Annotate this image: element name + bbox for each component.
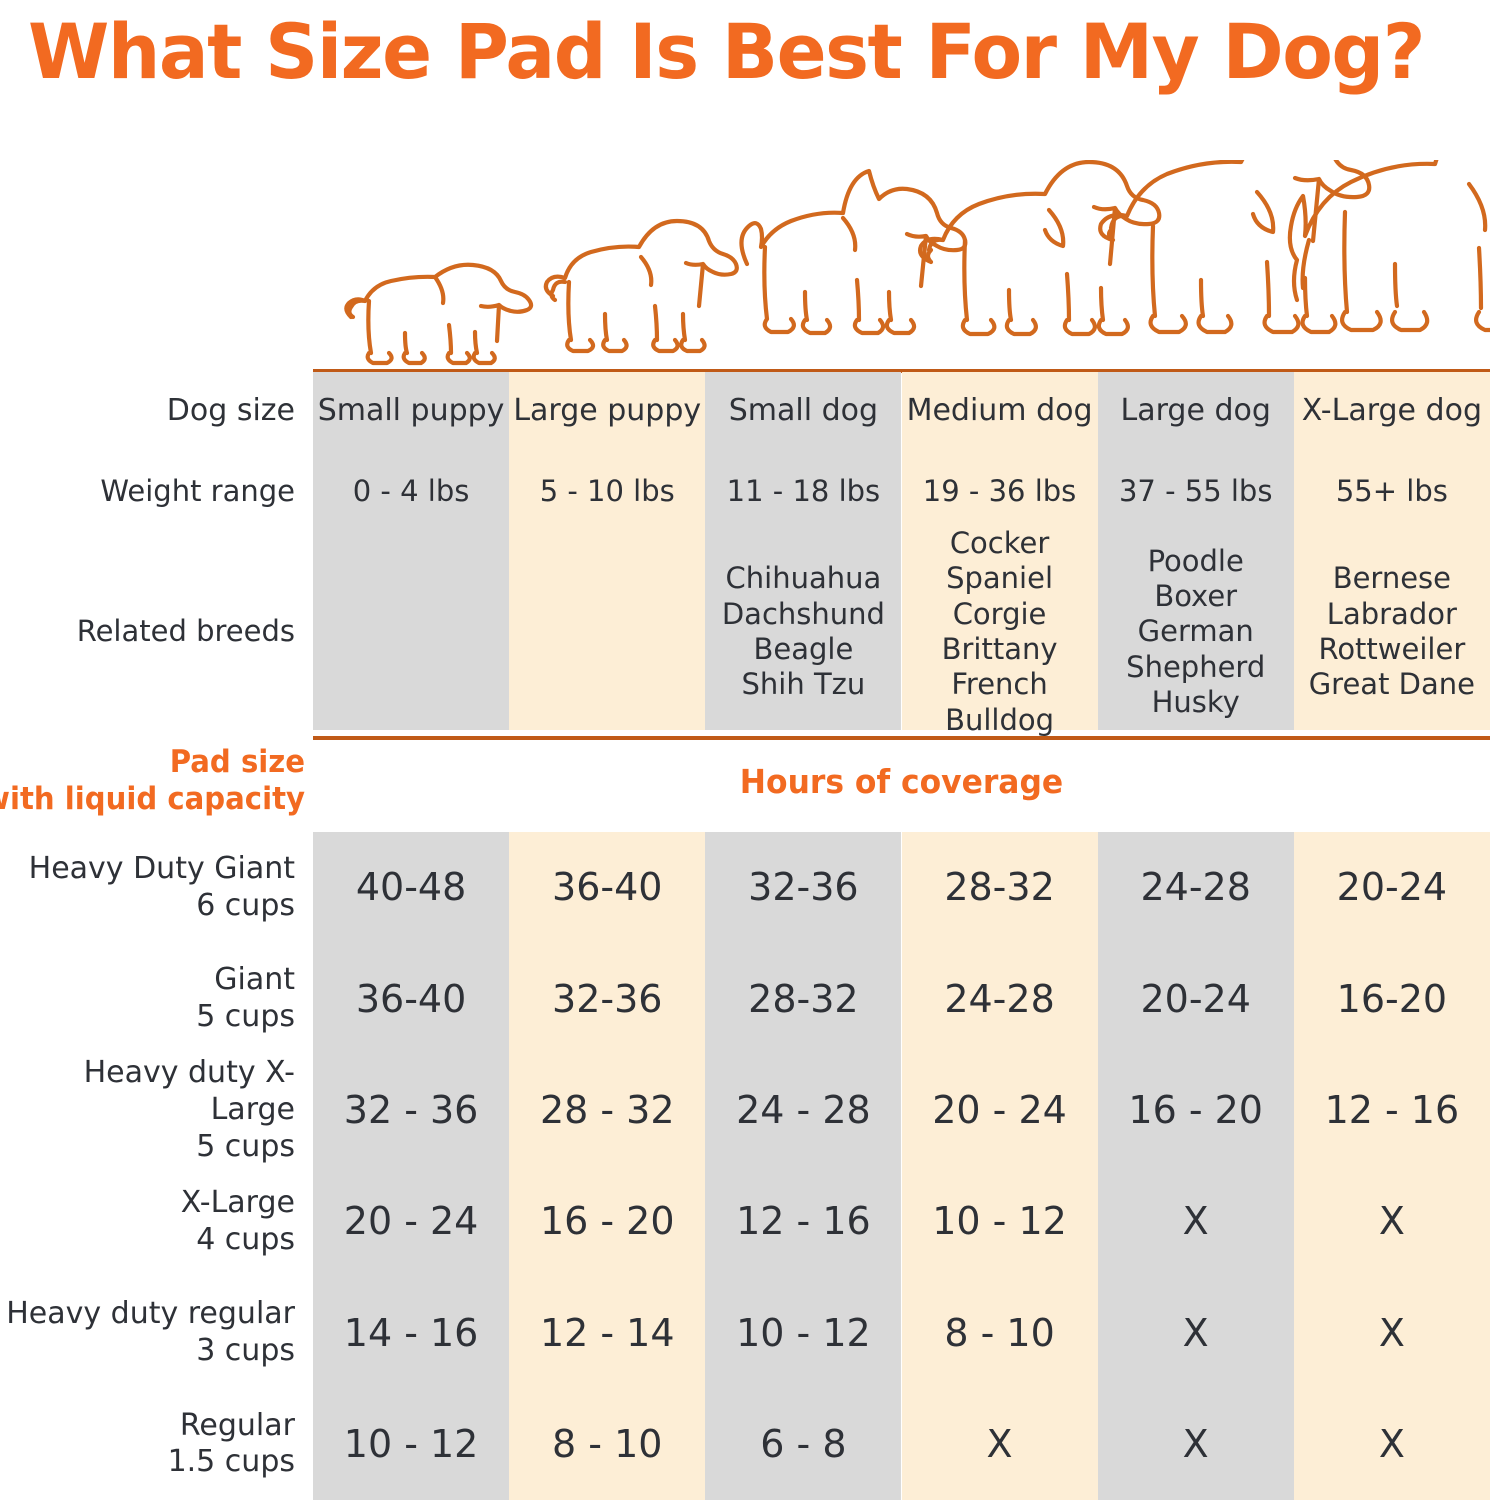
pad-name: Heavy duty regular [6, 1296, 295, 1333]
pad-size-label: Pad size with liquid capacity [0, 744, 305, 818]
hours-cell-r3-c3: 24 - 28 [705, 1055, 901, 1166]
hours-cell-r3-c6: 12 - 16 [1294, 1055, 1490, 1166]
dog-size-cell-2: Large puppy [509, 372, 705, 450]
hours-cell-r2-c4: 24-28 [901, 943, 1097, 1054]
infographic-root: What Size Pad Is Best For My Dog? [0, 0, 1499, 1500]
hours-cell-r4-c4: 10 - 12 [901, 1166, 1097, 1277]
pad-size-section-header: Pad size with liquid capacity Hours of c… [0, 742, 1499, 832]
breed-name: French Bulldog [901, 667, 1097, 738]
dog-size-cell-4: Medium dog [901, 372, 1097, 450]
breeds-cell-2 [509, 534, 705, 730]
breed-name: Dachshund [722, 597, 885, 632]
breed-name: Brittany [942, 632, 1058, 667]
hours-of-coverage-label: Hours of coverage [342, 762, 1460, 801]
breed-name: Cocker Spaniel [901, 526, 1097, 597]
breed-name: Rottweiler [1318, 632, 1465, 667]
breeds-cell-4: Cocker SpanielCorgieBrittanyFrench Bulld… [901, 534, 1097, 730]
hours-cell-r4-c5: X [1098, 1166, 1294, 1277]
hours-cell-r4-c3: 12 - 16 [705, 1166, 901, 1277]
pad-name: Regular [180, 1408, 295, 1445]
weight-cell-1: 0 - 4 lbs [313, 450, 509, 534]
row-label-dog-size: Dog size [0, 372, 313, 450]
small-puppy-icon [346, 265, 531, 363]
pad-capacity: 5 cups [196, 999, 295, 1036]
weight-cell-4: 19 - 36 lbs [901, 450, 1097, 534]
hours-cell-r5-c2: 12 - 14 [509, 1277, 705, 1388]
hours-cell-r1-c2: 36-40 [509, 832, 705, 943]
hours-cell-r2-c6: 16-20 [1294, 943, 1490, 1054]
breed-name: Shih Tzu [742, 667, 866, 702]
weight-cell-2: 5 - 10 lbs [509, 450, 705, 534]
pad-capacity: 1.5 cups [168, 1444, 295, 1481]
large-puppy-icon [546, 221, 737, 351]
hours-cell-r6-c1: 10 - 12 [313, 1388, 509, 1499]
row-label-related-breeds: Related breeds [0, 534, 313, 730]
breed-name: Beagle [753, 632, 853, 667]
page-title: What Size Pad Is Best For My Dog? [28, 6, 1435, 98]
weight-cell-6: 55+ lbs [1294, 450, 1490, 534]
hours-cell-r6-c5: X [1098, 1388, 1294, 1499]
pad-size-table: Heavy Duty Giant6 cups40-4836-4032-3628-… [0, 832, 1499, 1500]
hours-cell-r5-c5: X [1098, 1277, 1294, 1388]
pad-capacity: 5 cups [196, 1129, 295, 1166]
pad-name: Heavy Duty Giant [29, 851, 295, 888]
breeds-cell-5: PoodleBoxerGermanShepherdHusky [1098, 534, 1294, 730]
weight-cell-3: 11 - 18 lbs [705, 450, 901, 534]
hours-cell-r2-c5: 20-24 [1098, 943, 1294, 1054]
hours-cell-r6-c4: X [901, 1388, 1097, 1499]
pad-capacity: 6 cups [196, 888, 295, 925]
pad-capacity: 3 cups [196, 1333, 295, 1370]
breeds-cell-6: BerneseLabradorRottweilerGreat Dane [1294, 534, 1490, 730]
hours-cell-r1-c5: 24-28 [1098, 832, 1294, 943]
breeds-cell-1 [313, 534, 509, 730]
pad-size-label-line2: with liquid capacity [0, 781, 305, 818]
pad-name: X-Large [181, 1185, 295, 1222]
hours-cell-r6-c2: 8 - 10 [509, 1388, 705, 1499]
breed-name: Shepherd [1126, 650, 1265, 685]
pad-row-label-1: Heavy Duty Giant6 cups [0, 832, 313, 943]
pad-name: Giant [214, 962, 295, 999]
pad-row-label-3: Heavy duty X-Large5 cups [0, 1055, 313, 1166]
breed-name: Poodle [1148, 544, 1244, 579]
hours-cell-r6-c3: 6 - 8 [705, 1388, 901, 1499]
weight-cell-5: 37 - 55 lbs [1098, 450, 1294, 534]
dog-size-cell-5: Large dog [1098, 372, 1294, 450]
hours-cell-r3-c5: 16 - 20 [1098, 1055, 1294, 1166]
hours-cell-r2-c3: 28-32 [705, 943, 901, 1054]
section-divider [313, 736, 1490, 740]
large-dog-icon [1100, 160, 1369, 332]
hours-cell-r4-c1: 20 - 24 [313, 1166, 509, 1277]
hours-cell-r4-c2: 16 - 20 [509, 1166, 705, 1277]
breed-name: Labrador [1327, 597, 1457, 632]
row-label-weight-range: Weight range [0, 450, 313, 534]
hours-cell-r5-c3: 10 - 12 [705, 1277, 901, 1388]
hours-cell-r4-c6: X [1294, 1166, 1490, 1277]
pad-row-label-6: Regular1.5 cups [0, 1388, 313, 1499]
dog-size-cell-3: Small dog [705, 372, 901, 450]
hours-cell-r2-c1: 36-40 [313, 943, 509, 1054]
dog-size-cell-6: X-Large dog [1294, 372, 1490, 450]
hours-cell-r3-c2: 28 - 32 [509, 1055, 705, 1166]
breed-name: Corgie [953, 597, 1047, 632]
pad-name: Heavy duty X-Large [0, 1055, 295, 1128]
hours-cell-r3-c1: 32 - 36 [313, 1055, 509, 1166]
hours-cell-r1-c4: 28-32 [901, 832, 1097, 943]
breed-name: Great Dane [1309, 667, 1475, 702]
pad-row-label-2: Giant5 cups [0, 943, 313, 1054]
breeds-cell-3: ChihuahuaDachshundBeagleShih Tzu [705, 534, 901, 730]
hours-cell-r1-c6: 20-24 [1294, 832, 1490, 943]
hours-cell-r5-c6: X [1294, 1277, 1490, 1388]
dog-size-cell-1: Small puppy [313, 372, 509, 450]
pad-row-label-4: X-Large4 cups [0, 1166, 313, 1277]
breed-name: Husky [1152, 685, 1240, 720]
pad-row-label-5: Heavy duty regular3 cups [0, 1277, 313, 1388]
hours-cell-r1-c3: 32-36 [705, 832, 901, 943]
dog-info-table: Dog size Small puppy Large puppy Small d… [0, 372, 1499, 730]
hours-cell-r3-c4: 20 - 24 [901, 1055, 1097, 1166]
breed-name: German [1138, 614, 1254, 649]
dog-silhouettes-row [313, 160, 1490, 372]
breed-name: Bernese [1333, 561, 1451, 596]
hours-cell-r5-c4: 8 - 10 [901, 1277, 1097, 1388]
breed-name: Boxer [1154, 579, 1237, 614]
pad-capacity: 4 cups [196, 1222, 295, 1259]
hours-cell-r2-c2: 32-36 [509, 943, 705, 1054]
breed-name: Chihuahua [726, 561, 882, 596]
pad-size-label-line1: Pad size [0, 744, 305, 781]
hours-cell-r5-c1: 14 - 16 [313, 1277, 509, 1388]
hours-cell-r6-c6: X [1294, 1388, 1490, 1499]
hours-cell-r1-c1: 40-48 [313, 832, 509, 943]
